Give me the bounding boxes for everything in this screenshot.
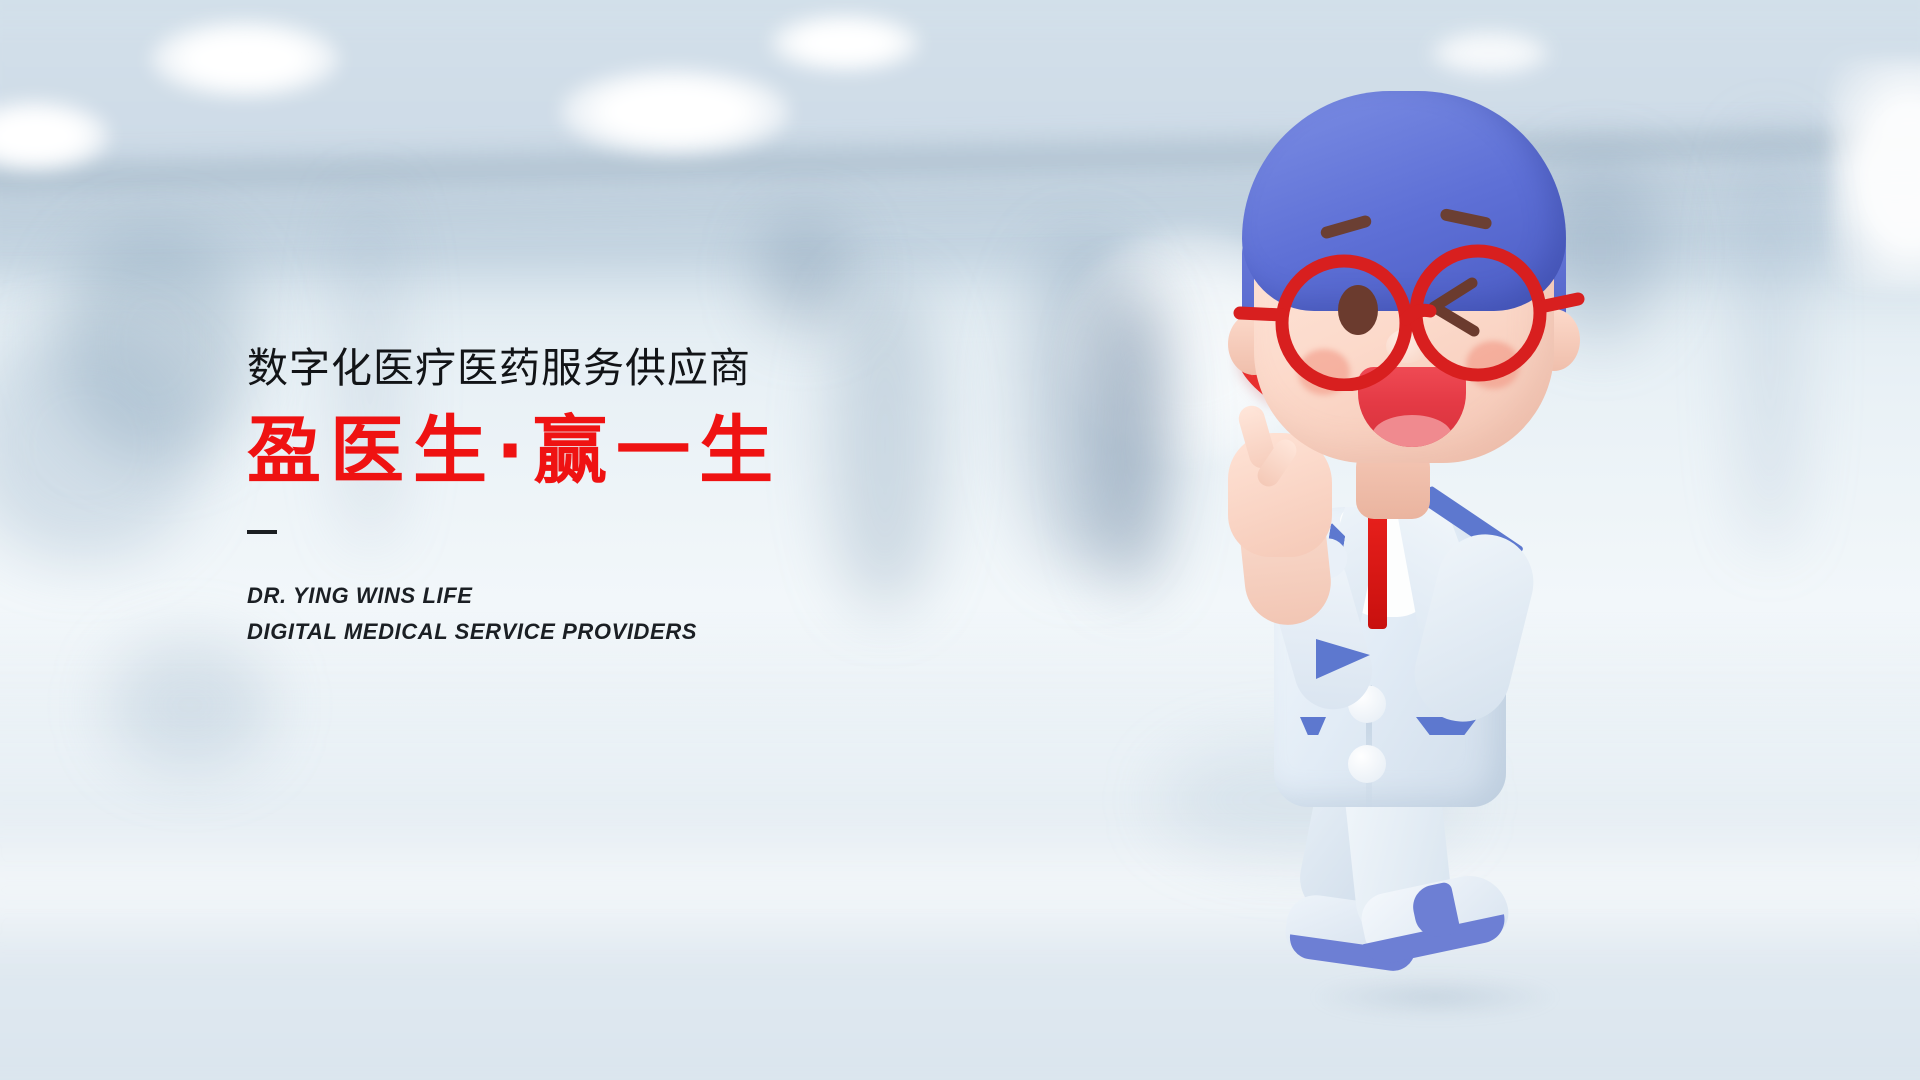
doctor-mascot: [1190, 45, 1610, 1035]
hero-english-line-1: DR. YING WINS LIFE: [247, 578, 782, 614]
mascot-shadow: [1310, 975, 1560, 1019]
hero-headline-cn: 盈医生·赢一生: [247, 412, 782, 492]
background-blur-shape: [1095, 290, 1171, 590]
background-blur-shape: [1740, 130, 1800, 550]
hero-english-block: DR. YING WINS LIFE DIGITAL MEDICAL SERVI…: [247, 578, 782, 649]
coat-button: [1348, 745, 1386, 783]
glasses-icon: [1226, 241, 1586, 391]
hero-english-line-2: DIGITAL MEDICAL SERVICE PROVIDERS: [247, 614, 782, 650]
divider-rule: [247, 530, 277, 534]
red-tie: [1368, 511, 1387, 629]
background-blur-shape: [830, 280, 940, 610]
ceiling-light: [560, 68, 790, 156]
ceiling-light: [1830, 60, 1920, 290]
ceiling-light: [770, 14, 920, 72]
hero-subtitle-cn: 数字化医疗医药服务供应商: [247, 345, 782, 392]
background-blur-shape: [0, 330, 200, 560]
hero-banner: 数字化医疗医药服务供应商 盈医生·赢一生 DR. YING WINS LIFE …: [0, 0, 1920, 1080]
ceiling-light: [150, 20, 340, 98]
background-blur-shape: [760, 220, 850, 330]
tongue: [1372, 415, 1452, 447]
background-blur-shape: [110, 640, 270, 770]
hero-copy: 数字化医疗医药服务供应商 盈医生·赢一生 DR. YING WINS LIFE …: [247, 345, 782, 649]
floor-reflection: [0, 830, 1920, 950]
